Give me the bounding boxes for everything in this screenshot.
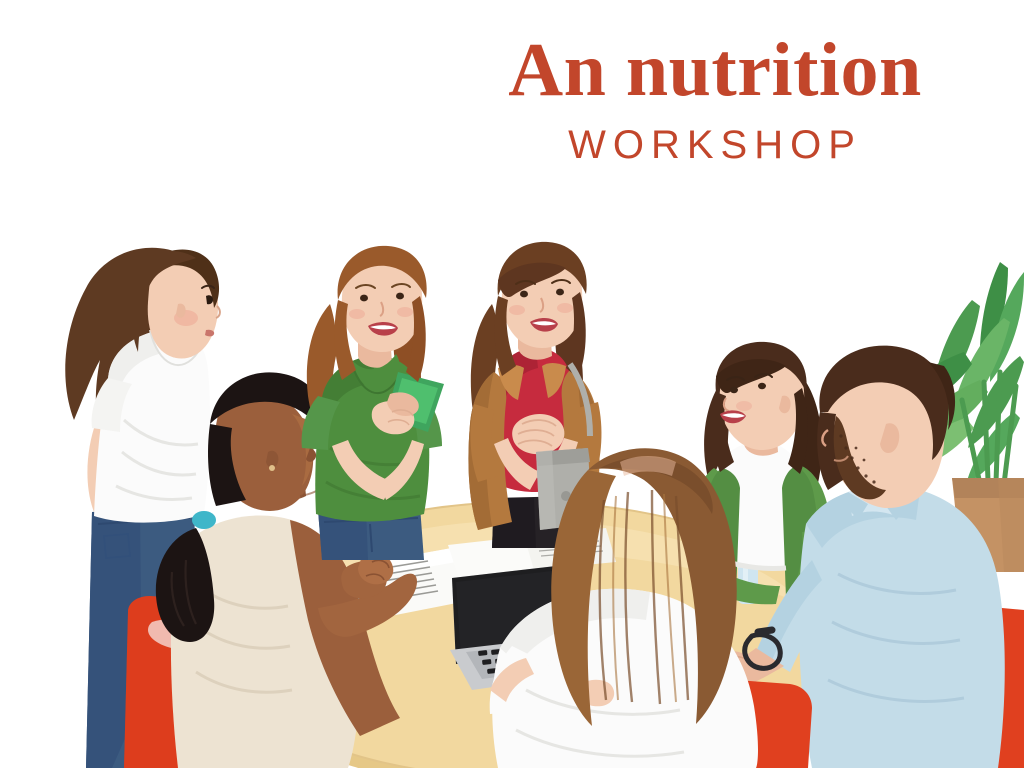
hairtie-teal (192, 511, 216, 529)
nutrition-workshop-illustration (0, 0, 1024, 768)
poster-canvas: An nutrition WORKSHOP (0, 0, 1024, 768)
